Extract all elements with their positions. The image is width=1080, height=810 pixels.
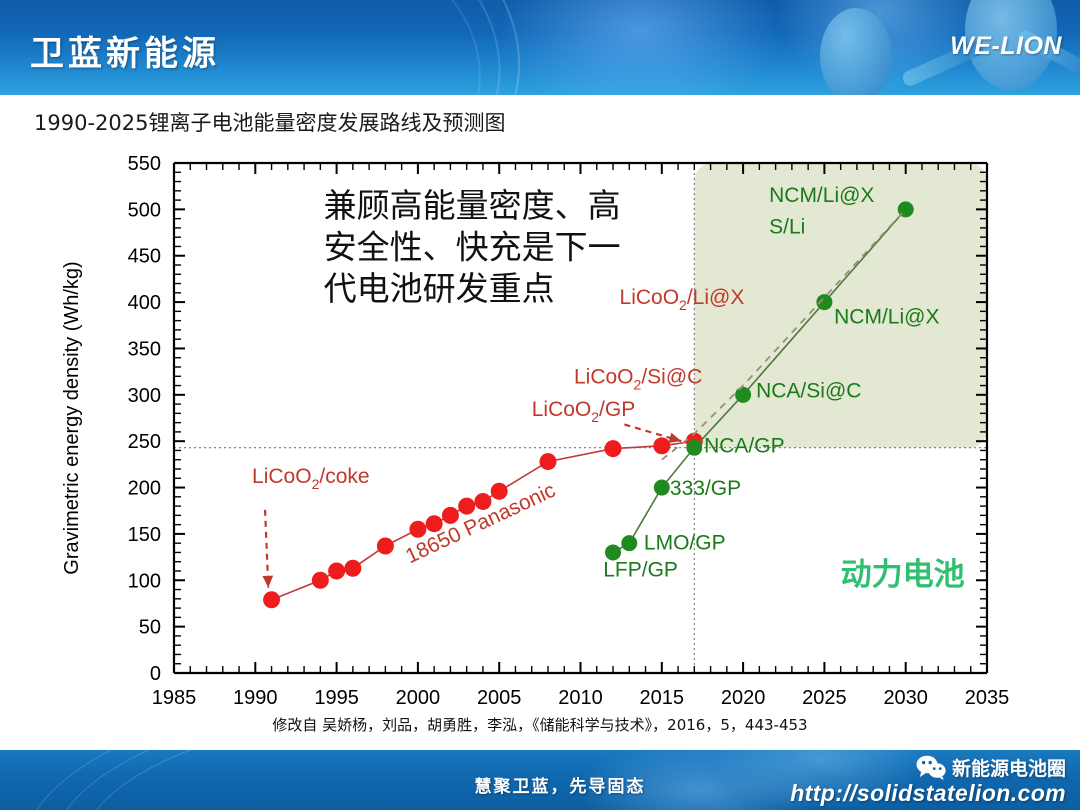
chart-container: 0501001502002503003504004505005501985199… (0, 140, 1080, 715)
svg-text:150: 150 (128, 524, 161, 546)
callout-line-3-text: 代电池研发重点 (324, 269, 555, 308)
brand-logo-en: WE-LION (950, 32, 1062, 61)
svg-text:2035: 2035 (965, 687, 1010, 709)
green-label-text: LFP/GP (603, 559, 678, 582)
bottom-banner: 慧聚卫蓝，先导固态 新能源电池圈 http://solidstatelion.c… (0, 750, 1080, 810)
wechat-account: 新能源电池圈 (916, 754, 1066, 781)
wechat-account-name: 新能源电池圈 (952, 754, 1066, 781)
green-label-text: NCA/GP (704, 434, 785, 457)
svg-text:300: 300 (128, 385, 161, 407)
svg-text:2030: 2030 (883, 687, 928, 709)
top-banner: 卫蓝新能源 WE-LION (0, 0, 1080, 95)
energy-density-roadmap-chart: 0501001502002503003504004505005501985199… (0, 140, 1080, 715)
svg-text:0: 0 (150, 663, 161, 685)
green-label-text: NCM/Li@X (769, 184, 874, 207)
green-label-text: S/Li (769, 215, 805, 238)
svg-text:500: 500 (128, 199, 161, 221)
svg-text:Gravimetric energy density (Wh: Gravimetric energy density (Wh/kg) (61, 261, 83, 574)
svg-text:100: 100 (128, 570, 161, 592)
svg-text:2000: 2000 (396, 687, 441, 709)
svg-text:2025: 2025 (802, 687, 847, 709)
red-label-text: LiCoO2/GP (532, 398, 636, 425)
zone-label-text: 动力电池 (841, 557, 965, 593)
green-label-text: NCM/Li@X (834, 305, 939, 328)
svg-text:2020: 2020 (721, 687, 766, 709)
brand-logo-cn: 卫蓝新能源 (30, 26, 220, 75)
red-label-text: LiCoO2/Si@C (574, 366, 702, 393)
svg-text:250: 250 (128, 431, 161, 453)
svg-text:450: 450 (128, 246, 161, 268)
callout-line-2-text: 安全性、快充是下一 (324, 228, 621, 267)
svg-text:2010: 2010 (558, 687, 603, 709)
svg-text:400: 400 (128, 292, 161, 314)
molecule-sphere-icon (820, 8, 892, 95)
svg-text:2005: 2005 (477, 687, 522, 709)
svg-text:550: 550 (128, 153, 161, 175)
wechat-icon (916, 755, 946, 780)
svg-text:1985: 1985 (152, 687, 197, 709)
red-label-text: LiCoO2/coke (252, 465, 370, 492)
y-axis-title: Gravimetric energy density (Wh/kg) (61, 261, 83, 574)
svg-text:1990: 1990 (233, 687, 278, 709)
red-label-text: LiCoO2/Li@X (620, 286, 745, 313)
green-label-text: NCA/Si@C (756, 380, 861, 403)
callout-line-1-text: 兼顾高能量密度、高 (324, 186, 621, 225)
green-label-text: 333/GP (670, 477, 741, 500)
svg-text:1995: 1995 (314, 687, 359, 709)
source-citation: 修改自 吴娇杨，刘品，胡勇胜，李泓，《储能科学与技术》，2016，5，443-4… (0, 714, 1080, 735)
svg-text:200: 200 (128, 478, 161, 500)
green-label-text: LMO/GP (644, 532, 726, 555)
page-title: 1990-2025锂离子电池能量密度发展路线及预测图 (34, 107, 505, 137)
footer-tagline: 慧聚卫蓝，先导固态 (420, 772, 700, 797)
svg-text:50: 50 (139, 617, 161, 639)
website-url[interactable]: http://solidstatelion.com (790, 780, 1066, 807)
svg-text:350: 350 (128, 338, 161, 360)
svg-text:2015: 2015 (640, 687, 685, 709)
